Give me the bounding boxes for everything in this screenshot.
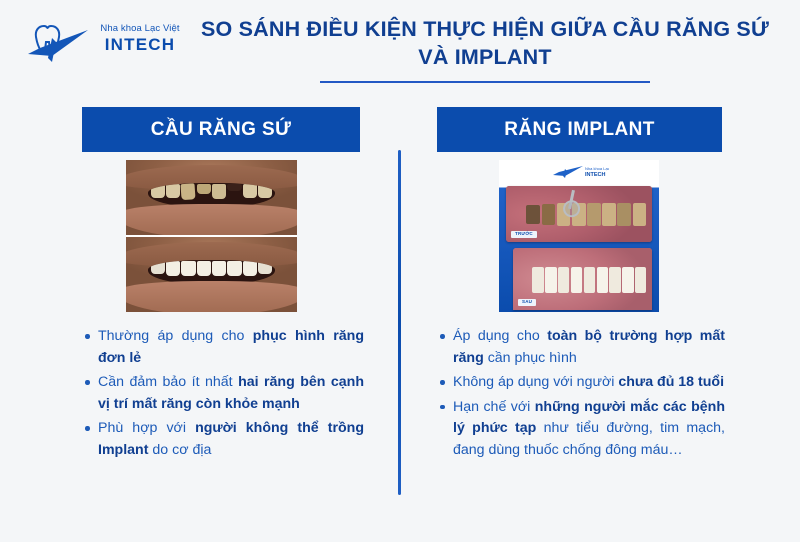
column-right-bullets: Áp dụng cho toàn bộ trường hợp mất răng …	[437, 326, 725, 464]
column-right: RĂNG IMPLANT	[437, 107, 722, 152]
svg-text:Nha khoa Lạc Việt: Nha khoa Lạc Việt	[585, 166, 609, 171]
column-left-bullets: Thường áp dụng cho phục hình răng đơn lẻ…	[82, 326, 364, 464]
list-item: Phù hợp với người không thể trồng Implan…	[82, 418, 364, 461]
brand-name: Nha khoa Lạc Việt INTECH	[94, 24, 186, 53]
brand-name-line1: Nha khoa Lạc Việt	[94, 24, 186, 34]
brand-logo: Nha khoa Lạc Việt INTECH	[22, 18, 182, 66]
brand-name-line2: INTECH	[94, 36, 186, 53]
bullet-list-right: Áp dụng cho toàn bộ trường hợp mất răng …	[437, 326, 725, 461]
bridge-photo-before	[126, 160, 297, 235]
implant-before-after-card: Nha khoa Lạc Việt INTECH TRƯỚC SAU	[499, 160, 659, 312]
title-block: SO SÁNH ĐIỀU KIỆN THỰC HIỆN GIỮA CẦU RĂN…	[185, 16, 785, 83]
svg-text:INTECH: INTECH	[585, 172, 606, 178]
implant-photo-after: SAU	[513, 248, 652, 310]
teeth-row-damaged	[151, 184, 272, 200]
column-left: CẦU RĂNG SỨ	[82, 107, 360, 152]
badge-after: SAU	[518, 299, 536, 307]
badge-before: TRƯỚC	[511, 231, 537, 239]
column-left-heading: CẦU RĂNG SỨ	[82, 107, 360, 152]
teeth-row-decayed	[526, 203, 646, 227]
card-brand-logo-icon: Nha khoa Lạc Việt INTECH	[549, 163, 609, 179]
page-title: SO SÁNH ĐIỀU KIỆN THỰC HIỆN GIỮA CẦU RĂN…	[185, 16, 785, 71]
bridge-photo-after	[126, 237, 297, 312]
list-item: Áp dụng cho toàn bộ trường hợp mất răng …	[437, 326, 725, 369]
bullet-list-left: Thường áp dụng cho phục hình răng đơn lẻ…	[82, 326, 364, 461]
column-right-heading: RĂNG IMPLANT	[437, 107, 722, 152]
list-item: Không áp dụng với người chưa đủ 18 tuổi	[437, 372, 725, 394]
title-underline	[320, 81, 650, 83]
page-header: Nha khoa Lạc Việt INTECH SO SÁNH ĐIỀU KI…	[0, 0, 800, 95]
teeth-row-restored	[151, 261, 272, 277]
bridge-before-after-photo	[126, 160, 297, 312]
column-divider	[398, 150, 401, 495]
list-item: Hạn chế với những người mắc các bệnh lý …	[437, 397, 725, 462]
list-item: Thường áp dụng cho phục hình răng đơn lẻ	[82, 326, 364, 369]
implant-photo-before: TRƯỚC	[506, 186, 652, 242]
list-item: Cần đảm bảo ít nhất hai răng bên cạnh vị…	[82, 372, 364, 415]
teeth-row-implant	[532, 267, 646, 293]
